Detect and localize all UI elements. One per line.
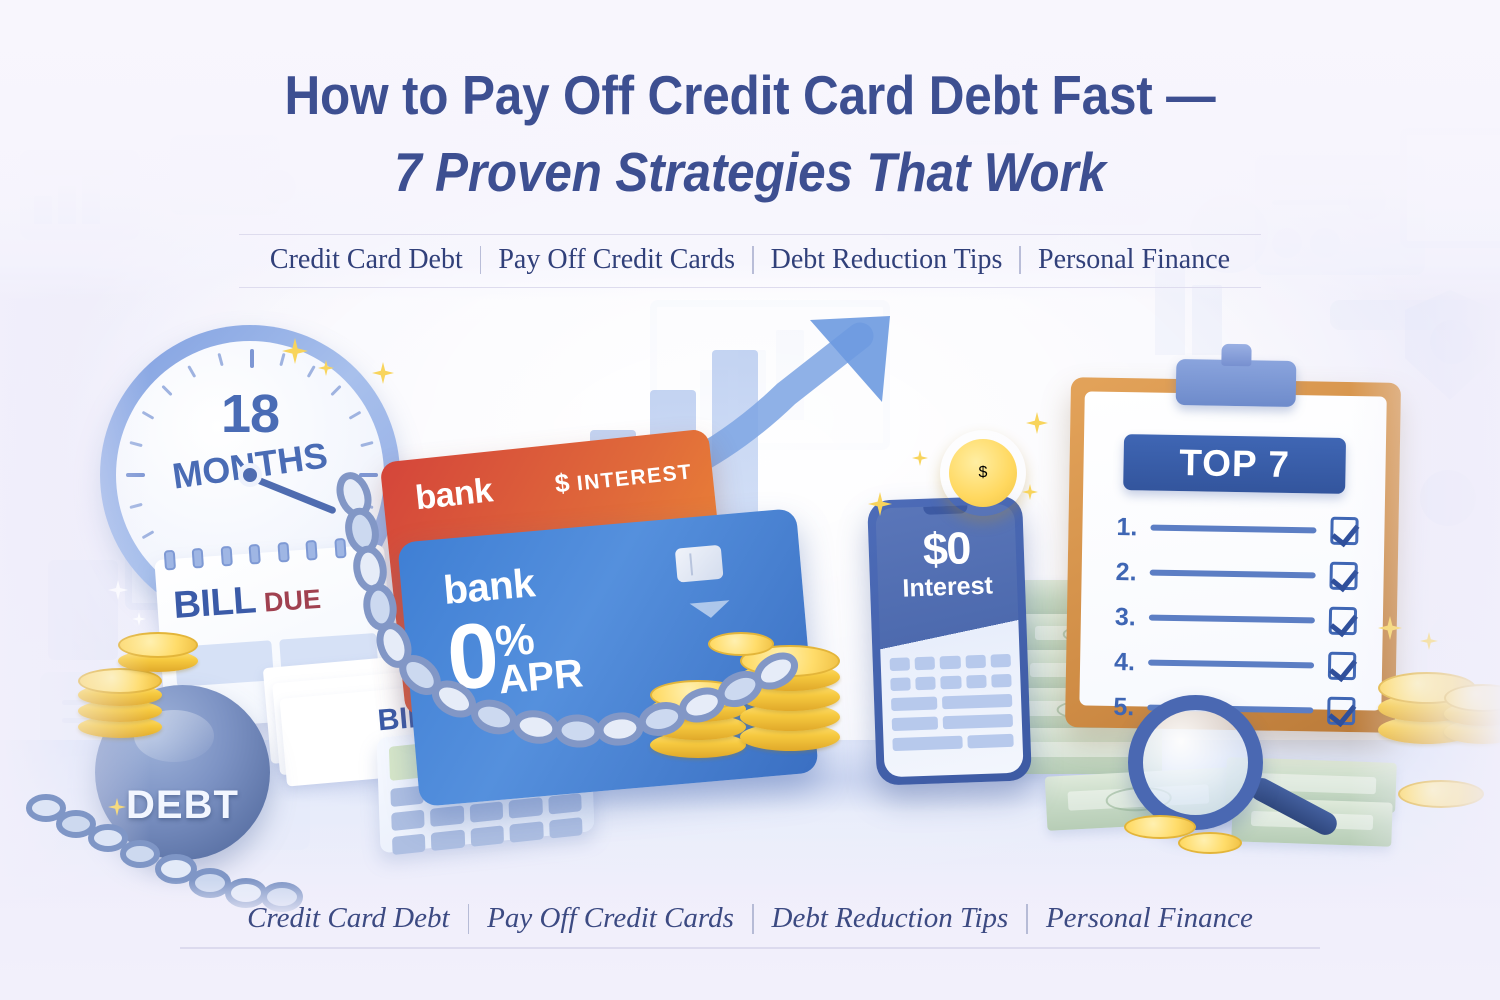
sparkle-icon	[1022, 484, 1038, 500]
list-item: 3.	[1115, 600, 1358, 638]
list-item-line	[1150, 525, 1316, 534]
magnifier-lens	[1128, 695, 1263, 830]
apr-label: APR	[497, 651, 585, 702]
clipboard-header: TOP 7	[1123, 434, 1346, 494]
sparkle-icon	[1420, 632, 1438, 650]
top7-clipboard: TOP 7 1. 2. 3.	[1065, 377, 1401, 733]
debt-label: DEBT	[95, 783, 270, 828]
checkbox-checked-icon[interactable]	[1327, 697, 1355, 725]
footer-tagline: Credit Card Debt Pay Off Credit Cards De…	[229, 902, 1271, 935]
checkbox-checked-icon[interactable]	[1329, 607, 1357, 635]
clipboard-clip	[1176, 359, 1297, 407]
footer-item-debt-reduction-tips[interactable]: Debt Reduction Tips	[754, 902, 1027, 935]
page-title: How to Pay Off Credit Card Debt Fast — 7…	[0, 0, 1500, 200]
list-item-number: 2.	[1115, 557, 1150, 587]
dollar-coin-icon: $	[940, 430, 1026, 516]
magnifier-icon	[1128, 695, 1263, 830]
clipboard-knob	[1221, 344, 1251, 367]
list-item-line	[1148, 660, 1314, 669]
card-red-interest: $INTEREST	[553, 454, 693, 499]
checkbox-checked-icon[interactable]	[1329, 562, 1357, 590]
tagline-item-pay-off-credit-cards[interactable]: Pay Off Credit Cards	[481, 244, 752, 276]
card-chip-icon	[675, 545, 724, 583]
phone-amount: $0	[876, 526, 1016, 574]
phone-screen: $0 Interest	[875, 504, 1023, 778]
list-item-number: 1.	[1116, 512, 1151, 542]
footer-divider	[180, 947, 1320, 949]
list-item: 4.	[1114, 645, 1357, 683]
header-tagline: Credit Card Debt Pay Off Credit Cards De…	[239, 234, 1261, 288]
mobile-phone: $0 Interest	[867, 495, 1032, 785]
header: How to Pay Off Credit Card Debt Fast — 7…	[0, 0, 1500, 300]
list-item-line	[1150, 570, 1316, 579]
list-item-number: 4.	[1114, 647, 1149, 677]
list-item-number: 3.	[1115, 602, 1150, 632]
footer: Credit Card Debt Pay Off Credit Cards De…	[0, 880, 1500, 1000]
title-line-1: How to Pay Off Credit Card Debt Fast —	[75, 68, 1425, 123]
phone-label: Interest	[878, 570, 1018, 604]
card-red-brand: bank	[413, 471, 494, 518]
footer-item-personal-finance[interactable]: Personal Finance	[1028, 902, 1271, 935]
title-line-2: 7 Proven Strategies That Work	[75, 145, 1425, 200]
dollar-sign-icon: $	[553, 467, 572, 499]
phone-hero: $0 Interest	[876, 526, 1017, 605]
tagline-item-personal-finance[interactable]: Personal Finance	[1021, 244, 1247, 276]
calendar-due-label: DUE	[263, 584, 322, 619]
list-item: 1.	[1116, 510, 1359, 548]
footer-item-credit-card-debt[interactable]: Credit Card Debt	[229, 902, 467, 935]
phone-content-rows	[890, 654, 1014, 758]
tagline-item-debt-reduction-tips[interactable]: Debt Reduction Tips	[754, 244, 1020, 276]
contactless-icon	[690, 600, 731, 619]
apr-zero: 0	[444, 617, 498, 698]
illustration-scene: 18 MONTHS BILL DUE	[0, 280, 1500, 900]
tagline-item-credit-card-debt[interactable]: Credit Card Debt	[253, 244, 480, 276]
clipboard-header-label: TOP 7	[1179, 442, 1290, 486]
clipboard-paper: TOP 7 1. 2. 3.	[1079, 391, 1386, 710]
dollar-sign-icon: $	[979, 464, 988, 482]
calendar-bill-label: BILL	[172, 579, 257, 628]
checkbox-checked-icon[interactable]	[1328, 652, 1356, 680]
checkbox-checked-icon[interactable]	[1330, 517, 1358, 545]
footer-item-pay-off-credit-cards[interactable]: Pay Off Credit Cards	[469, 902, 752, 935]
list-item-line	[1149, 615, 1315, 624]
hero-banner: 18 MONTHS BILL DUE	[0, 0, 1500, 1000]
card-red-interest-label: INTEREST	[576, 460, 694, 495]
clock-pin	[238, 463, 262, 487]
sparkle-icon	[1026, 412, 1048, 434]
card-blue-apr: 0 % APR	[444, 609, 584, 702]
list-item: 2.	[1115, 555, 1358, 593]
